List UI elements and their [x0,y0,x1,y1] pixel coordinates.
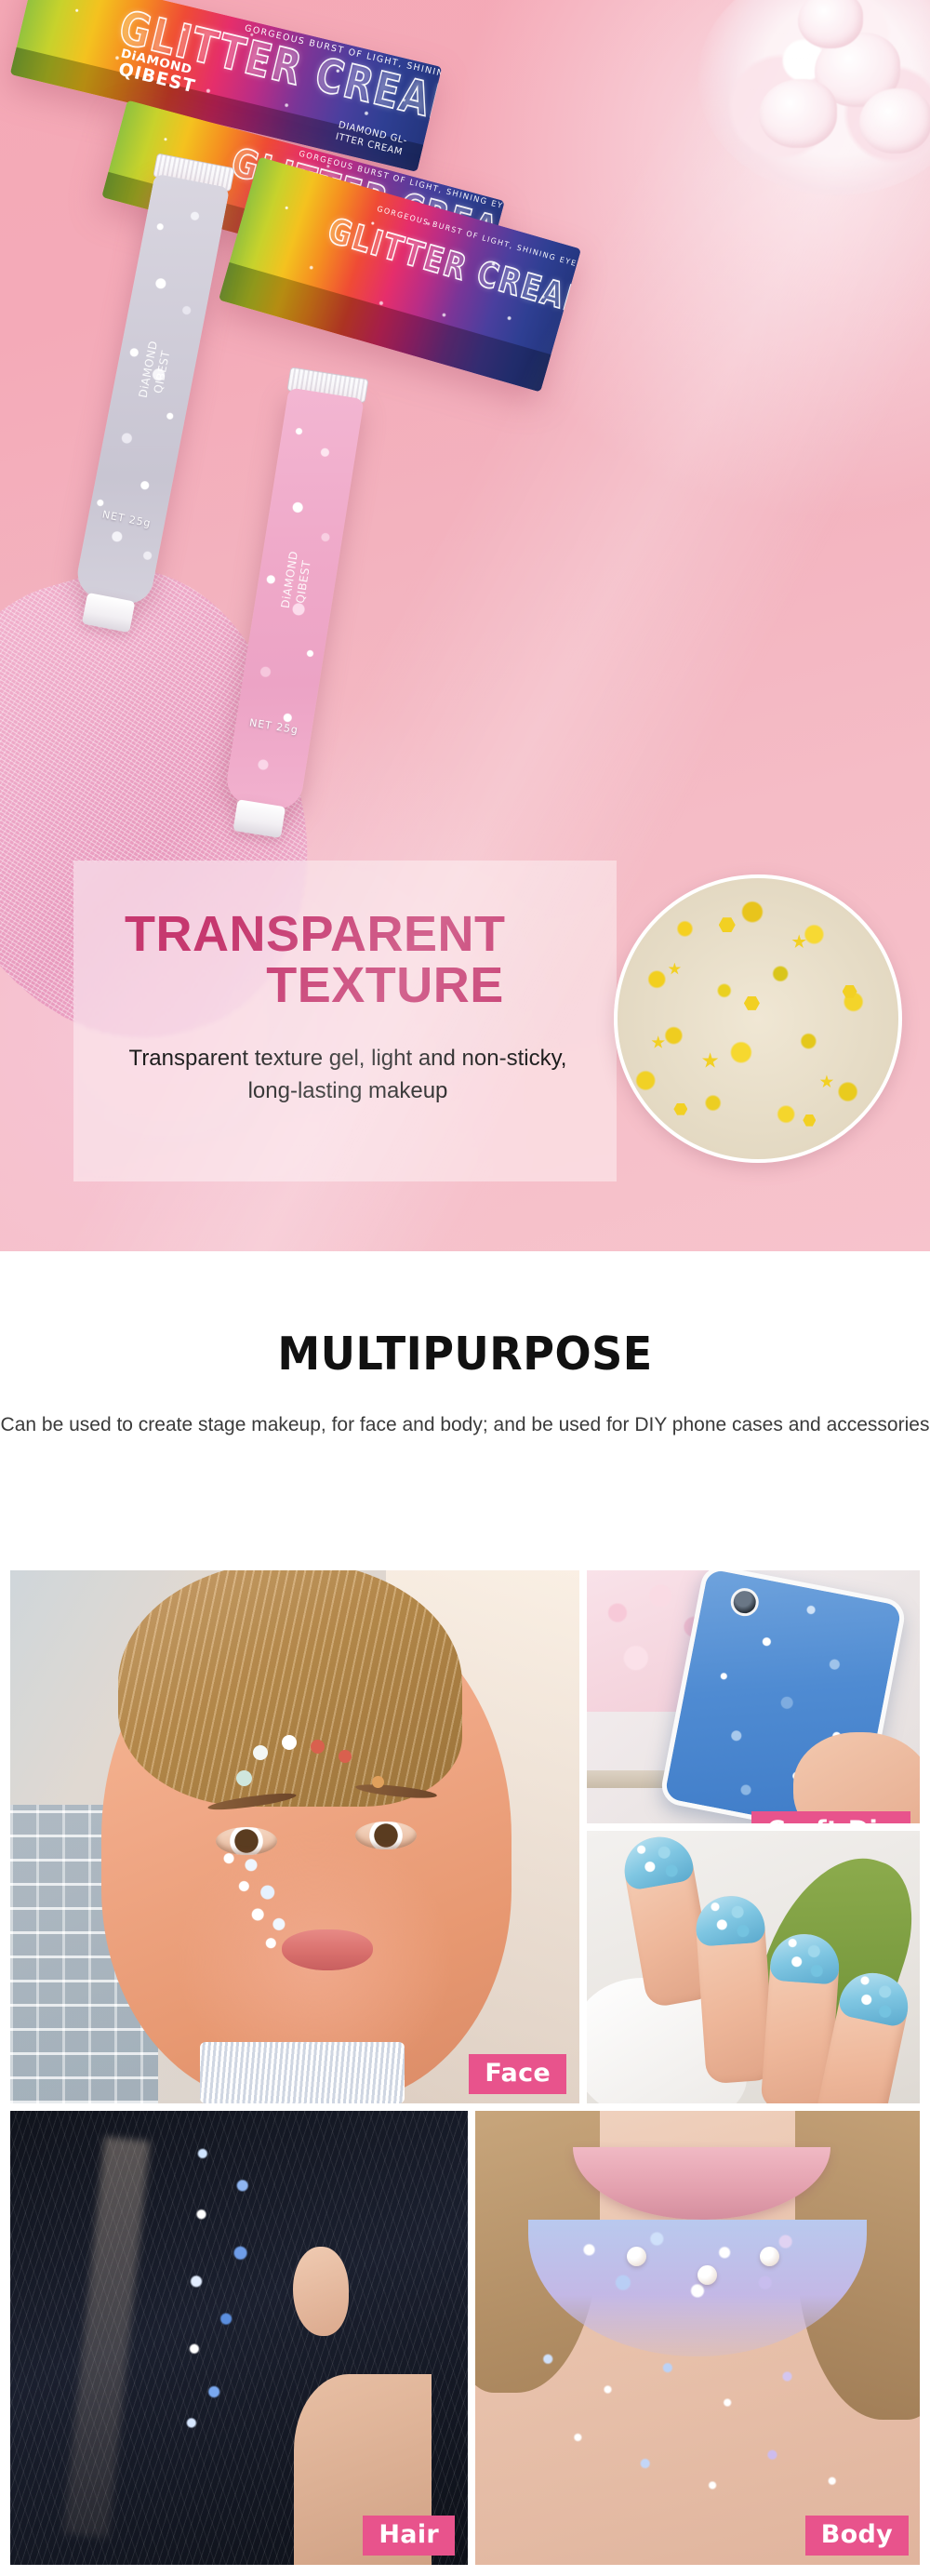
usage-cell-craft-diy: Craft Diy [587,1570,920,1823]
tube-net-weight: NET 25g [88,506,166,532]
usage-cell-body: Body [475,2111,920,2565]
usage-tag-body: Body [805,2516,909,2556]
tube-body-pink: DiAMOND QIBEST NET 25g [223,387,364,812]
hero-product-photo: GLITTER CREAM GORGEOUS BURST OF LIGHT, S… [0,0,930,1251]
peony-flower-decoration [697,0,930,195]
photo-glitter-phone-case [587,1570,920,1823]
usage-photo-grid: Face Craft Diy Hair [10,1570,920,2565]
photo-glitter-body-decolletage [475,2111,920,2565]
multipurpose-section: MULTIPURPOSE Can be used to create stage… [0,1251,930,1535]
usage-tag-craft-diy: Craft Diy [751,1811,910,1823]
photo-glitter-hair [10,2111,468,2565]
usage-cell-face: Face [10,1570,579,2103]
gel-texture-swatch-circle [614,874,902,1163]
usage-cell-hair: Hair [10,2111,468,2565]
glitter-tube-silver: DiAMOND QIBEST NET 25g [73,173,230,607]
tube-brand-text: DiAMOND QIBEST [135,330,177,410]
usage-tag-face: Face [469,2054,566,2094]
tube-net-weight: NET 25g [235,714,312,739]
panel-title: TRANSPARENT TEXTURE [125,909,590,1011]
usage-tag-hair: Hair [363,2516,455,2556]
photo-face-makeup [10,1570,579,2103]
glitter-tube-pink: DiAMOND QIBEST NET 25g [223,387,364,812]
panel-title-line2: TEXTURE [125,960,590,1011]
multipurpose-heading: MULTIPURPOSE [28,1328,902,1381]
box-subtitle: DIAMOND GL- ITTER CREAM [334,119,408,160]
tube-body-silver: DiAMOND QIBEST NET 25g [73,173,230,607]
transparent-texture-panel: TRANSPARENT TEXTURE Transparent texture … [73,861,617,1181]
photo-glitter-nails [587,1831,920,2103]
panel-title-line1: TRANSPARENT [125,906,506,962]
usage-cell-nail-art [587,1831,920,2103]
panel-description: Transparent texture gel, light and non-s… [115,1043,580,1108]
tube-brand-text: DiAMOND QIBEST [277,541,316,621]
multipurpose-subtext: Can be used to create stage makeup, for … [0,1410,930,1441]
